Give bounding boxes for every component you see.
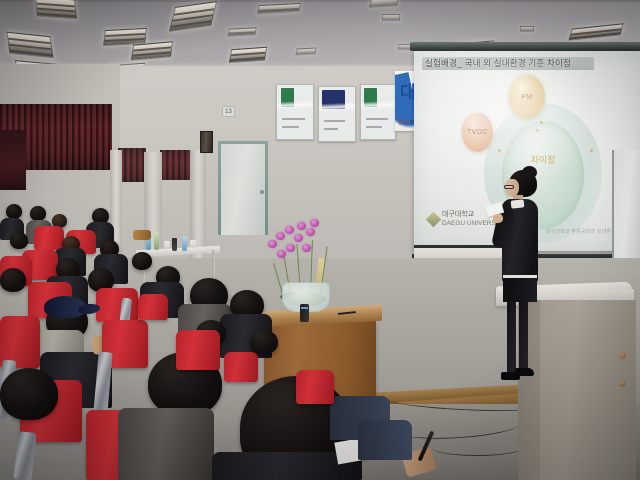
orchid-bloom xyxy=(302,244,311,252)
slide-bubble-pm: PM xyxy=(509,75,545,119)
audience-head xyxy=(30,206,46,221)
orchid-bloom xyxy=(276,232,285,240)
whiteboard xyxy=(612,150,640,270)
orchid-bloom xyxy=(297,222,306,230)
auditorium-seat[interactable] xyxy=(224,352,258,382)
audience-head xyxy=(0,268,26,292)
water-bottle[interactable] xyxy=(154,232,159,250)
slide-logo-ko: 대구대학교 xyxy=(442,211,474,218)
door-leaf[interactable] xyxy=(221,144,265,235)
presenter-leg xyxy=(507,300,516,376)
slide-bubble-tvoc: TVOC xyxy=(462,113,493,152)
screen-roller-bar xyxy=(410,42,640,51)
ceiling-light-fixture xyxy=(227,27,256,36)
ceiling-light-fixture xyxy=(382,14,400,21)
ceiling-light-fixture xyxy=(520,26,534,32)
presenter-skirt xyxy=(503,278,537,302)
presenter xyxy=(495,170,555,385)
orchid-bloom xyxy=(306,228,315,236)
door-handle-icon[interactable] xyxy=(260,190,264,194)
beverage-bottle[interactable] xyxy=(172,238,177,251)
water-bottle[interactable] xyxy=(182,236,187,251)
orchid-bloom xyxy=(277,250,286,258)
auditorium-seat[interactable] xyxy=(34,226,64,250)
audience-head xyxy=(250,330,278,354)
poster-glare xyxy=(360,100,396,109)
poster-glare xyxy=(318,102,356,112)
presenter-shoe xyxy=(515,368,534,376)
presenter-leg xyxy=(519,300,528,376)
wall-poster xyxy=(318,86,356,142)
wall-dark-panel xyxy=(0,130,26,190)
paper-cup[interactable] xyxy=(164,241,170,249)
stage-curtain xyxy=(118,148,146,182)
lectern-knob-icon[interactable] xyxy=(619,380,626,387)
logo-diamond-icon xyxy=(426,211,442,227)
auditorium-seat[interactable] xyxy=(176,330,220,370)
presenter-collar xyxy=(511,199,525,208)
auditorium-seat[interactable] xyxy=(138,294,168,320)
snack-tray xyxy=(133,230,151,240)
wall-speaker-icon xyxy=(200,131,213,153)
slide-title-text: 실험배경_ 국내 외 실내환경 기준 차이점 xyxy=(425,57,605,70)
door[interactable] xyxy=(218,141,268,235)
paper-cup[interactable] xyxy=(190,240,196,248)
orchid-bloom xyxy=(310,219,319,227)
microphone-unit[interactable] xyxy=(300,304,309,322)
audience-jeans xyxy=(358,420,412,460)
stage-curtain xyxy=(160,150,192,180)
wall-poster xyxy=(360,84,396,140)
poster-glare xyxy=(276,100,314,110)
presenter-hair-bun xyxy=(522,166,537,179)
auditorium-seat[interactable] xyxy=(296,370,334,404)
orchid-bloom xyxy=(286,244,295,252)
ceiling-light-fixture xyxy=(295,47,316,55)
ceiling-light-fixture xyxy=(229,47,267,64)
orchid-bloom xyxy=(268,240,277,248)
lectern-knob-icon[interactable] xyxy=(619,352,626,359)
audience-head xyxy=(10,232,28,249)
door-number-sign: 13 xyxy=(222,106,235,117)
auditorium-seat[interactable] xyxy=(96,288,138,322)
audience-head xyxy=(6,204,22,219)
baseball-cap xyxy=(44,296,86,318)
lecture-hall-photo: 13 대구 대 일시 2008. 11. 실험배경_ 국내 외 실내환경 기준 … xyxy=(0,0,640,480)
orchid-bloom xyxy=(285,226,294,234)
ceiling-beam xyxy=(0,0,640,2)
ceiling-light-fixture xyxy=(35,0,77,19)
glasses-icon xyxy=(504,185,514,189)
wall-poster xyxy=(276,84,314,140)
slide-center-label: 차이점 xyxy=(502,153,584,166)
orchid-bloom xyxy=(294,234,303,242)
audience-head xyxy=(132,252,152,270)
banner-date-prefix: 일시 xyxy=(398,120,408,126)
audience-body xyxy=(118,408,214,480)
audience-head xyxy=(0,368,58,420)
mic-indicator-icon xyxy=(301,307,308,309)
floor-cable xyxy=(432,440,522,456)
